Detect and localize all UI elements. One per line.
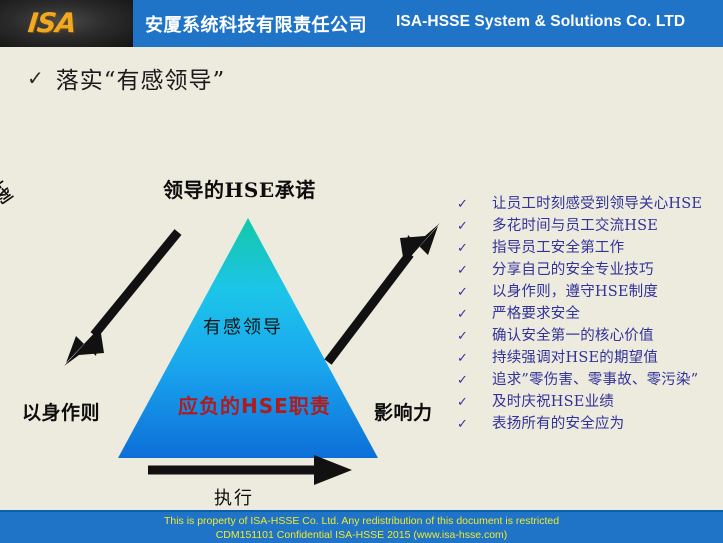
slide-footer: This is property of ISA-HSSE Co. Ltd. An…: [0, 510, 723, 543]
check-icon: ✓: [452, 392, 492, 413]
page-title: ✓ 落实“有感领导”: [27, 61, 225, 95]
check-icon: ✓: [452, 370, 492, 391]
list-item-label: 及时庆祝HSE业绩: [492, 392, 718, 413]
check-icon: ✓: [452, 260, 492, 281]
list-item: ✓ 及时庆祝HSE业绩: [452, 392, 718, 413]
list-item: ✓ 让员工时刻感受到领导关心HSE: [452, 194, 718, 215]
check-icon: ✓: [452, 348, 492, 369]
check-icon: ✓: [452, 282, 492, 303]
footer-line-1: This is property of ISA-HSSE Co. Ltd. An…: [0, 514, 723, 528]
list-item-label: 表扬所有的安全应为: [492, 414, 718, 435]
list-item-label: 指导员工安全第工作: [492, 238, 718, 259]
check-icon: ✓: [452, 304, 492, 325]
pyramid-right-label: 影响力: [374, 398, 433, 425]
list-item: ✓ 持续强调对HSE的期望值: [452, 348, 718, 369]
list-item: ✓ 指导员工安全第工作: [452, 238, 718, 259]
check-icon: ✓: [452, 326, 492, 347]
list-item: ✓ 以身作则，遵守HSE制度: [452, 282, 718, 303]
footer-line-2: CDM151101 Confidential ISA-HSSE 2015 (ww…: [0, 528, 723, 542]
slide-canvas: ISA 安厦系统科技有限责任公司 ISA-HSSE System & Solut…: [0, 0, 723, 543]
list-item-label: 持续强调对HSE的期望值: [492, 348, 718, 369]
logo-plate: ISA: [0, 0, 133, 47]
list-item: ✓ 确认安全第一的核心价值: [452, 326, 718, 347]
list-item-label: 确认安全第一的核心价值: [492, 326, 718, 347]
check-icon: ✓: [452, 194, 492, 215]
header-title-bar: 安厦系统科技有限责任公司 ISA-HSSE System & Solutions…: [133, 0, 723, 47]
pyramid-inner-lower-label: 应负的HSE职责: [178, 390, 331, 419]
header-title-english: ISA-HSSE System & Solutions Co. LTD: [396, 13, 685, 31]
check-icon: ✓: [452, 216, 492, 237]
list-item: ✓ 多花时间与员工交流HSE: [452, 216, 718, 237]
checkmark-icon: ✓: [27, 68, 44, 88]
right-arrow-icon: [328, 223, 440, 362]
list-item: ✓ 分享自己的安全专业技巧: [452, 260, 718, 281]
list-item: ✓ 追求”零伤害、零事故、零污染”: [452, 370, 718, 391]
list-item: ✓ 严格要求安全: [452, 304, 718, 325]
list-item-label: 分享自己的安全专业技巧: [492, 260, 718, 281]
list-item: ✓ 表扬所有的安全应为: [452, 414, 718, 435]
slide-header: ISA 安厦系统科技有限责任公司 ISA-HSSE System & Solut…: [0, 0, 723, 47]
isa-logo-icon: ISA: [26, 8, 77, 39]
commitment-bullet-list: ✓ 让员工时刻感受到领导关心HSE ✓ 多花时间与员工交流HSE ✓ 指导员工安…: [452, 194, 718, 436]
pyramid-top-label: 领导的HSE承诺: [163, 174, 316, 203]
list-item-label: 让员工时刻感受到领导关心HSE: [492, 194, 718, 215]
pyramid-inner-upper-label: 有感领导: [203, 313, 283, 339]
check-icon: ✓: [452, 238, 492, 259]
list-item-label: 多花时间与员工交流HSE: [492, 216, 718, 237]
list-item-label: 严格要求安全: [492, 304, 718, 325]
list-item-label: 以身作则，遵守HSE制度: [492, 282, 718, 303]
list-item-label: 追求”零伤害、零事故、零污染”: [492, 370, 718, 391]
check-icon: ✓: [452, 414, 492, 435]
pyramid-left-label: 以身作则: [22, 398, 100, 425]
header-title-chinese: 安厦系统科技有限责任公司: [145, 11, 367, 37]
page-title-text: 落实“有感领导”: [56, 61, 226, 95]
leadership-pyramid-diagram: 领导的HSE承诺 以身作则 影响力 执行 参与 计划 有感领导 应负的HSE职责: [0, 150, 450, 510]
